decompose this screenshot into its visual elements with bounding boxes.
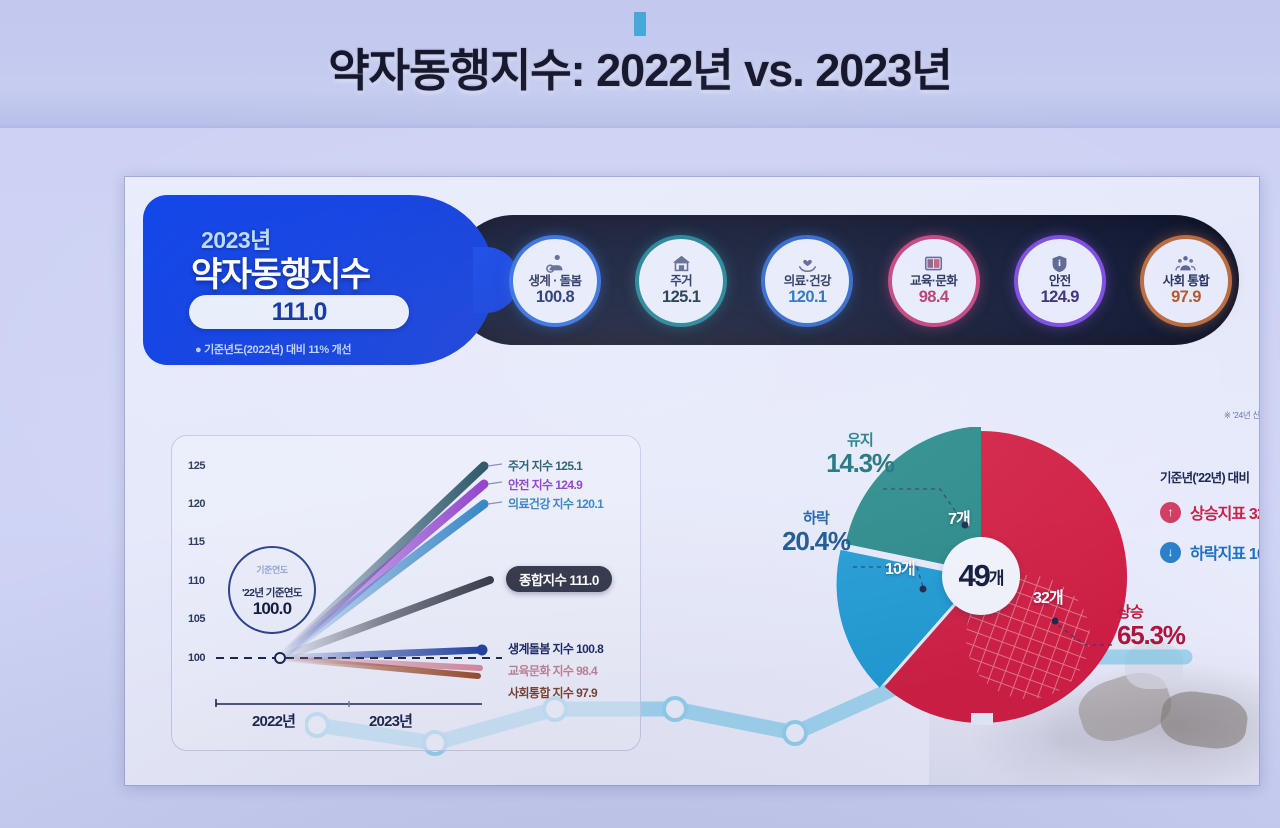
projector-vignette (0, 0, 1280, 828)
